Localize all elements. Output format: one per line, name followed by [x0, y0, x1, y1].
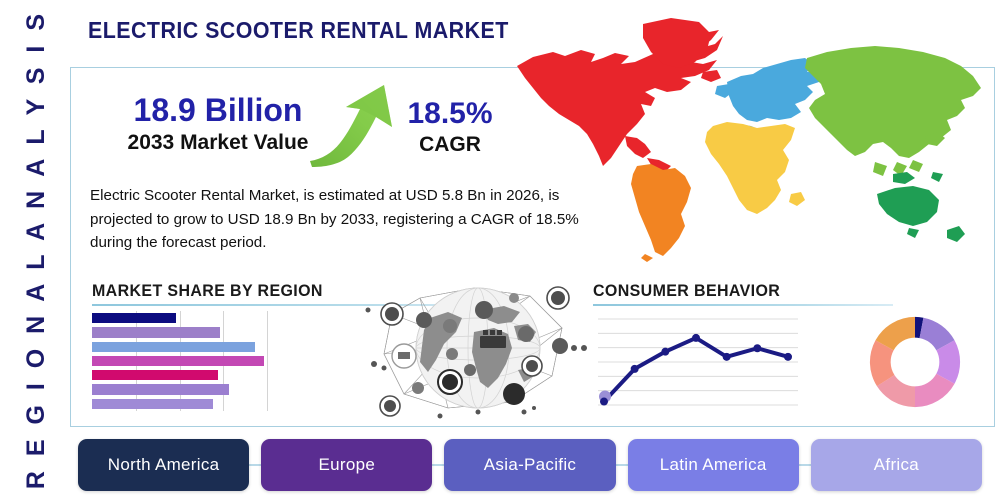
regional-analysis-side-label: R E G I O N A L A N A L Y S I S [8, 30, 64, 470]
consumer-behavior-donut-chart [866, 313, 964, 411]
line-chart-marker [631, 365, 639, 373]
bar-chart-row [92, 397, 267, 411]
region-button-asia-pacific[interactable]: Asia-Pacific [444, 439, 615, 491]
bar-chart-row [92, 382, 267, 396]
bar-chart-bar [92, 313, 176, 323]
bar-chart-bar [92, 342, 255, 352]
page-title: ELECTRIC SCOOTER RENTAL MARKET [88, 17, 509, 44]
bar-chart-bar [92, 399, 213, 409]
cagr-caption: CAGR [395, 133, 505, 156]
bar-chart-bar [92, 370, 218, 380]
growth-arrow-icon [306, 83, 406, 168]
global-network-globe-icon [362, 276, 594, 420]
region-button-africa[interactable]: Africa [811, 439, 982, 491]
bar-chart-row [92, 354, 267, 368]
region-button-latin-america[interactable]: Latin America [628, 439, 799, 491]
line-chart-marker [661, 348, 669, 356]
market-value-caption: 2033 Market Value [118, 131, 318, 154]
region-button-north-america[interactable]: North America [78, 439, 249, 491]
line-chart-marker [600, 398, 608, 406]
bar-chart-bar [92, 356, 264, 366]
bar-chart-bars [92, 311, 267, 411]
line-chart-marker [692, 334, 700, 342]
consumer-behavior-heading-text: CONSUMER BEHAVIOR [593, 281, 875, 301]
bar-chart-row [92, 340, 267, 354]
infographic-canvas: R E G I O N A L A N A L Y S I S ELECTRIC… [0, 0, 1000, 500]
cagr-stat: 18.5% CAGR [395, 98, 505, 156]
bar-chart-gridline [267, 311, 268, 411]
market-share-bar-chart [92, 311, 267, 411]
line-chart-marker [723, 353, 731, 361]
region-button-bar[interactable]: North AmericaEuropeAsia-PacificLatin Ame… [78, 438, 982, 492]
bar-chart-row [92, 311, 267, 325]
bar-chart-row [92, 368, 267, 382]
bar-chart-row [92, 325, 267, 339]
market-value-number: 18.9 Billion [118, 94, 318, 128]
region-button-europe[interactable]: Europe [261, 439, 432, 491]
consumer-behavior-heading: CONSUMER BEHAVIOR [593, 281, 893, 306]
market-value-stat: 18.9 Billion 2033 Market Value [118, 94, 318, 154]
cagr-number: 18.5% [395, 98, 505, 130]
side-label-text: R E G I O N A L A N A L Y S I S [22, 10, 51, 489]
consumer-behavior-heading-rule [593, 304, 893, 306]
market-description: Electric Scooter Rental Market, is estim… [90, 184, 590, 255]
bar-chart-bar [92, 327, 220, 337]
line-chart-marker [784, 353, 792, 361]
consumer-behavior-line-chart [598, 311, 798, 413]
line-chart-marker [753, 344, 761, 352]
bar-chart-bar [92, 384, 229, 394]
